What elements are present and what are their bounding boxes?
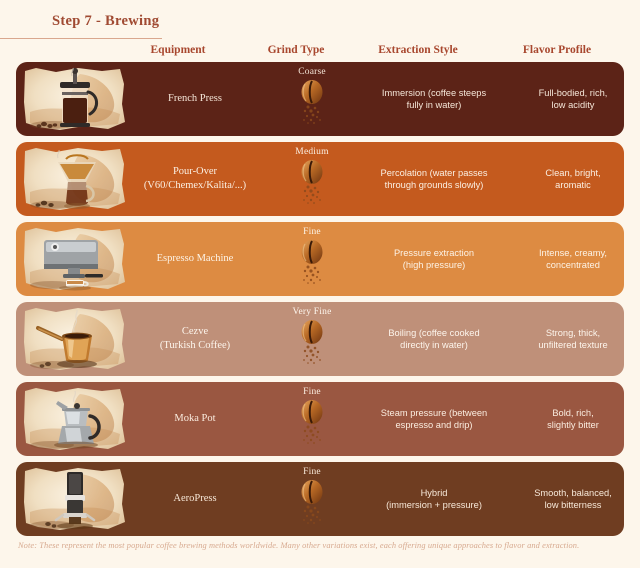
pour-over-image bbox=[22, 146, 127, 212]
table-row[interactable]: Espresso MachineFine Pressure extraction… bbox=[16, 222, 624, 296]
page-title: Step 7 - Brewing bbox=[52, 13, 159, 30]
equipment-name: Espresso Machine bbox=[128, 222, 262, 296]
column-headers: Equipment Grind Type Extraction Style Fl… bbox=[0, 44, 640, 60]
method-rows: French PressCoarse Immersion (coffee ste… bbox=[16, 62, 624, 542]
equipment-name: French Press bbox=[128, 62, 262, 136]
extraction-style: Steam pressure (betweenespresso and drip… bbox=[362, 382, 506, 456]
header-equipment: Equipment bbox=[151, 44, 206, 56]
espresso-machine-image bbox=[22, 226, 127, 292]
extraction-line: Immersion (coffee steeps bbox=[382, 87, 486, 100]
grind-type-cell: Very Fine bbox=[262, 302, 362, 376]
extraction-line: directly in water) bbox=[400, 339, 468, 352]
grind-type-cell: Fine bbox=[262, 382, 362, 456]
grind-type-cell: Fine bbox=[262, 462, 362, 536]
extraction-style: Boiling (coffee cookeddirectly in water) bbox=[362, 302, 506, 376]
coffee-bean-icon bbox=[295, 238, 329, 286]
flavor-line: Smooth, balanced, bbox=[534, 487, 612, 500]
table-row[interactable]: French PressCoarse Immersion (coffee ste… bbox=[16, 62, 624, 136]
equipment-name: Cezve(Turkish Coffee) bbox=[128, 302, 262, 376]
extraction-line: Steam pressure (between bbox=[381, 407, 487, 420]
title-section: Step 7 - Brewing bbox=[0, 6, 640, 40]
coffee-bean-icon bbox=[295, 158, 329, 206]
extraction-line: (immersion + pressure) bbox=[386, 499, 482, 512]
extraction-line: Percolation (water passes bbox=[381, 167, 488, 180]
header-grind-type: Grind Type bbox=[268, 44, 325, 56]
header-flavor-profile: Flavor Profile bbox=[523, 44, 591, 56]
aeropress-image bbox=[22, 466, 127, 532]
flavor-profile: Clean, bright,aromatic bbox=[508, 142, 624, 216]
equipment-line: Moka Pot bbox=[174, 412, 215, 426]
moka-pot-image bbox=[22, 386, 127, 452]
french-press-image bbox=[22, 66, 127, 132]
extraction-style: Hybrid(immersion + pressure) bbox=[362, 462, 506, 536]
coffee-bean-icon bbox=[295, 318, 329, 366]
flavor-line: low acidity bbox=[552, 99, 595, 112]
flavor-line: low bitterness bbox=[545, 499, 602, 512]
flavor-line: Bold, rich, bbox=[552, 407, 593, 420]
flavor-profile: Smooth, balanced,low bitterness bbox=[508, 462, 624, 536]
extraction-style: Pressure extraction(high pressure) bbox=[362, 222, 506, 296]
grind-type-cell: Fine bbox=[262, 222, 362, 296]
table-row[interactable]: Cezve(Turkish Coffee)Very Fine Boiling (… bbox=[16, 302, 624, 376]
grind-type-label: Fine bbox=[303, 227, 321, 237]
grind-type-label: Fine bbox=[303, 387, 321, 397]
extraction-line: (high pressure) bbox=[403, 259, 466, 272]
equipment-line: AeroPress bbox=[173, 492, 216, 506]
coffee-bean-icon bbox=[295, 78, 329, 126]
grind-type-label: Fine bbox=[303, 467, 321, 477]
cezve-image bbox=[22, 306, 127, 372]
table-row[interactable]: AeroPressFine Hybrid(immersion + pressur… bbox=[16, 462, 624, 536]
flavor-profile: Strong, thick,unfiltered texture bbox=[508, 302, 624, 376]
equipment-line: (V60/Chemex/Kalita/...) bbox=[144, 179, 246, 193]
flavor-line: unfiltered texture bbox=[538, 339, 607, 352]
flavor-line: Full-bodied, rich, bbox=[539, 87, 608, 100]
flavor-line: slightly bitter bbox=[547, 419, 599, 432]
equipment-name: Moka Pot bbox=[128, 382, 262, 456]
extraction-line: Boiling (coffee cooked bbox=[388, 327, 479, 340]
grind-type-label: Medium bbox=[295, 147, 328, 157]
equipment-line: Espresso Machine bbox=[157, 252, 234, 266]
grind-type-cell: Medium bbox=[262, 142, 362, 216]
header-extraction-style: Extraction Style bbox=[378, 44, 458, 56]
flavor-profile: Intense, creamy,concentrated bbox=[508, 222, 624, 296]
equipment-line: French Press bbox=[168, 92, 222, 106]
table-row[interactable]: Moka PotFine Steam pressure (betweenespr… bbox=[16, 382, 624, 456]
flavor-line: Strong, thick, bbox=[546, 327, 600, 340]
flavor-line: concentrated bbox=[546, 259, 600, 272]
equipment-line: (Turkish Coffee) bbox=[160, 339, 230, 353]
extraction-style: Percolation (water passesthrough grounds… bbox=[362, 142, 506, 216]
extraction-line: Hybrid bbox=[421, 487, 448, 500]
extraction-line: fully in water) bbox=[407, 99, 462, 112]
grind-type-label: Very Fine bbox=[292, 307, 331, 317]
flavor-profile: Full-bodied, rich,low acidity bbox=[508, 62, 624, 136]
extraction-line: through grounds slowly) bbox=[385, 179, 484, 192]
flavor-line: aromatic bbox=[555, 179, 591, 192]
equipment-name: Pour-Over(V60/Chemex/Kalita/...) bbox=[128, 142, 262, 216]
footer-note: Note: These represent the most popular c… bbox=[18, 541, 622, 550]
flavor-line: Intense, creamy, bbox=[539, 247, 607, 260]
grind-type-label: Coarse bbox=[298, 67, 326, 77]
coffee-bean-icon bbox=[295, 398, 329, 446]
coffee-bean-icon bbox=[295, 478, 329, 526]
grind-type-cell: Coarse bbox=[262, 62, 362, 136]
extraction-style: Immersion (coffee steepsfully in water) bbox=[362, 62, 506, 136]
table-row[interactable]: Pour-Over(V60/Chemex/Kalita/...)Medium P… bbox=[16, 142, 624, 216]
equipment-line: Pour-Over bbox=[173, 165, 217, 179]
flavor-profile: Bold, rich,slightly bitter bbox=[508, 382, 624, 456]
equipment-name: AeroPress bbox=[128, 462, 262, 536]
brewing-methods-infographic: Step 7 - Brewing Equipment Grind Type Ex… bbox=[0, 0, 640, 568]
equipment-line: Cezve bbox=[182, 325, 208, 339]
flavor-line: Clean, bright, bbox=[545, 167, 600, 180]
extraction-line: Pressure extraction bbox=[394, 247, 474, 260]
extraction-line: espresso and drip) bbox=[396, 419, 473, 432]
title-underline bbox=[0, 38, 162, 39]
